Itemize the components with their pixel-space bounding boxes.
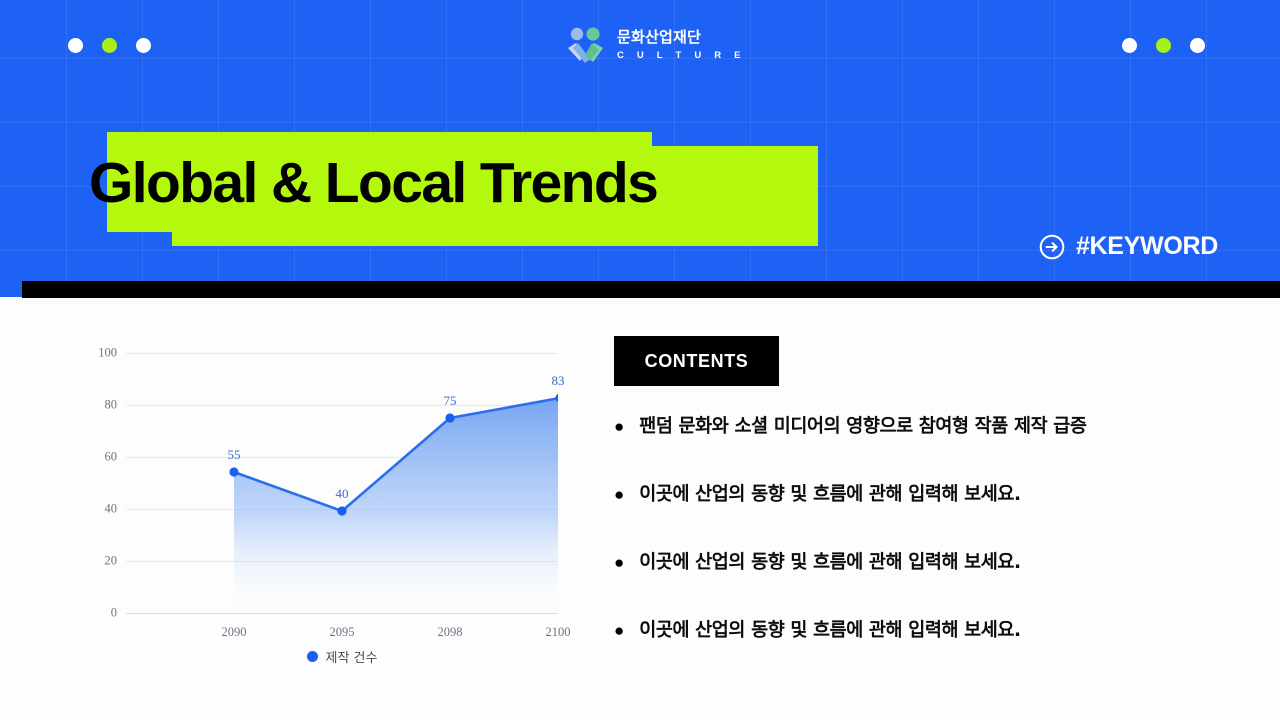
header-accent-bar: [22, 281, 1280, 298]
list-item: ● 이곳에 산업의 동향 및 흐름에 관해 입력해 보세요.: [614, 483, 1234, 551]
decor-dot-white: [1190, 38, 1205, 53]
brand-subtitle: C U L T U R E: [617, 51, 746, 61]
decor-dot-white: [68, 38, 83, 53]
y-tick-label: 80: [105, 398, 118, 413]
contents-heading-box: CONTENTS: [614, 336, 779, 386]
y-tick-label: 60: [105, 450, 118, 465]
brand-logo: 문화산업재단 C U L T U R E: [563, 26, 746, 64]
decor-dot-white: [1122, 38, 1137, 53]
y-tick-label: 20: [105, 554, 118, 569]
list-item: ● 이곳에 산업의 동향 및 흐름에 관해 입력해 보세요.: [614, 551, 1234, 619]
data-label: 40: [336, 486, 349, 502]
legend-marker-icon: [307, 651, 318, 662]
decor-dot-lime: [1156, 38, 1171, 53]
decor-dots-right: [1122, 38, 1205, 53]
decor-dots-left: [68, 38, 151, 53]
decor-dot-white: [136, 38, 151, 53]
x-tick-label: 2098: [438, 625, 463, 640]
page-title: Global & Local Trends: [107, 132, 727, 250]
bullet-marker-icon: ●: [614, 619, 624, 641]
bullet-marker-icon: ●: [614, 415, 624, 437]
arrow-right-circle-icon: [1039, 234, 1065, 260]
x-tick-label: 2100: [546, 625, 571, 640]
decor-dot-lime: [102, 38, 117, 53]
keyword-label: #KEYWORD: [1076, 232, 1218, 261]
bullet-marker-icon: ●: [614, 483, 624, 505]
page-title-text: Global & Local Trends: [89, 150, 749, 216]
people-mark-icon: [563, 26, 607, 64]
keyword-badge[interactable]: #KEYWORD: [1039, 232, 1218, 261]
list-item-text: 이곳에 산업의 동향 및 흐름에 관해 입력해 보세요.: [639, 483, 1020, 506]
list-item: ● 팬덤 문화와 소셜 미디어의 영향으로 참여형 작품 제작 급증: [614, 415, 1234, 483]
legend-label: 제작 건수: [326, 647, 378, 666]
x-tick-label: 2095: [330, 625, 355, 640]
list-item-text: 팬덤 문화와 소셜 미디어의 영향으로 참여형 작품 제작 급증: [639, 415, 1086, 438]
slide-header: 문화산업재단 C U L T U R E Global & Local Tren…: [0, 0, 1280, 297]
data-label: 55: [228, 447, 241, 463]
slide-body: 100 80 60 40 20 0: [0, 297, 1280, 720]
brand-name: 문화산업재단: [617, 30, 746, 45]
list-item-text: 이곳에 산업의 동향 및 흐름에 관해 입력해 보세요.: [639, 551, 1020, 574]
list-item-text: 이곳에 산업의 동향 및 흐름에 관해 입력해 보세요.: [639, 619, 1020, 642]
data-label: 75: [444, 393, 457, 409]
chart-series-svg: [126, 353, 558, 615]
y-tick-label: 100: [98, 346, 117, 361]
data-label: 83: [552, 373, 565, 389]
x-tick-label: 2090: [222, 625, 247, 640]
chart-plot-area: 100 80 60 40 20 0: [126, 353, 558, 615]
list-item: ● 이곳에 산업의 동향 및 흐름에 관해 입력해 보세요.: [614, 619, 1234, 687]
y-tick-label: 0: [111, 606, 117, 621]
chart-legend: 제작 건수: [126, 647, 558, 666]
contents-bullet-list: ● 팬덤 문화와 소셜 미디어의 영향으로 참여형 작품 제작 급증 ● 이곳에…: [614, 415, 1234, 687]
contents-heading-label: CONTENTS: [645, 351, 749, 372]
bullet-marker-icon: ●: [614, 551, 624, 573]
trend-chart: 100 80 60 40 20 0: [56, 337, 576, 687]
y-tick-label: 40: [105, 502, 118, 517]
